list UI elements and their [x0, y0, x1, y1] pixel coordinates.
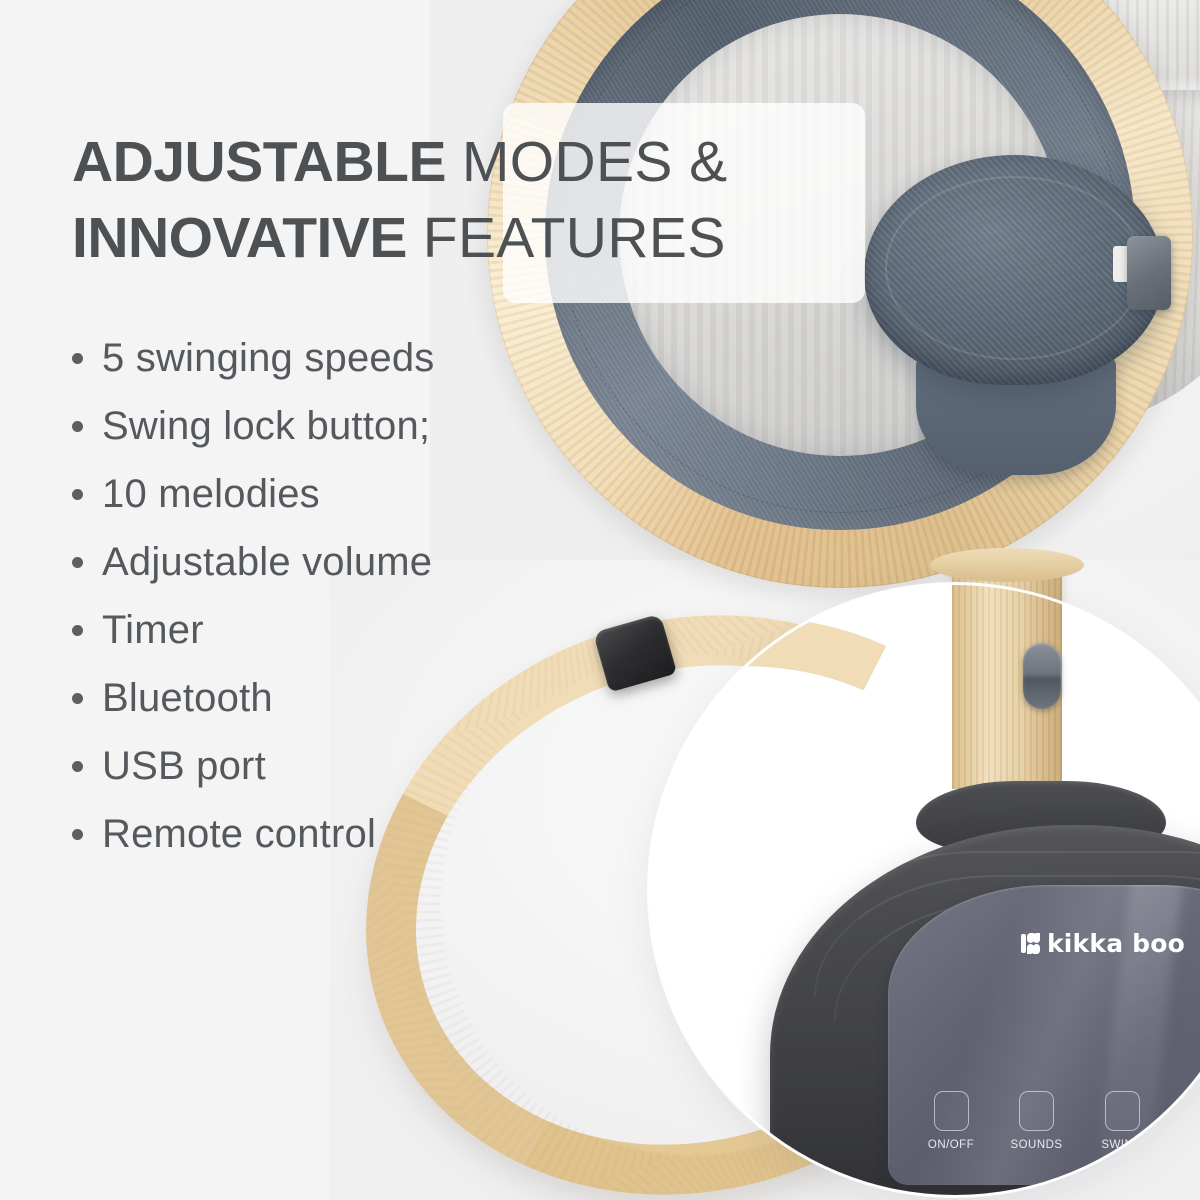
list-item: Bluetooth	[72, 664, 435, 732]
bullet-dot-icon	[72, 353, 83, 364]
bullet-dot-icon	[72, 761, 83, 772]
feature-label: Swing lock button;	[102, 392, 430, 460]
bullet-dot-icon	[72, 421, 83, 432]
brand-name: kikka boo	[1047, 931, 1185, 956]
post-top-cap	[930, 548, 1084, 582]
feature-label: USB port	[102, 732, 266, 800]
headline-line-1: ADJUSTABLE MODES &	[72, 124, 872, 200]
zoom-callout-circle: kikka boo ON/OFF SOUNDS S	[650, 585, 1200, 1195]
marketing-banner: kikka boo ON/OFF SOUNDS S	[0, 0, 1200, 1200]
headline-line-1-bold: ADJUSTABLE	[72, 130, 446, 194]
bullet-dot-icon	[72, 693, 83, 704]
list-item: Adjustable volume	[72, 528, 435, 596]
harness-buckle	[1127, 236, 1171, 310]
kikkaboo-k-mark-icon	[1021, 933, 1040, 954]
bullet-dot-icon	[72, 625, 83, 636]
control-button-on-off[interactable]: ON/OFF	[912, 1091, 990, 1151]
list-item: Timer	[72, 596, 435, 664]
control-panel[interactable]: kikka boo ON/OFF SOUNDS S	[888, 885, 1200, 1185]
list-item: 10 melodies	[72, 460, 435, 528]
on-off-label: ON/OFF	[928, 1139, 974, 1151]
bullet-dot-icon	[72, 829, 83, 840]
feature-label: Timer	[102, 596, 204, 664]
control-button-row: ON/OFF SOUNDS SWING TIMER	[912, 1091, 1200, 1151]
list-item: 5 swinging speeds	[72, 324, 435, 392]
list-item: USB port	[72, 732, 435, 800]
timer-key-icon[interactable]	[1190, 1091, 1200, 1131]
control-button-timer[interactable]: TIMER	[1169, 1091, 1200, 1151]
brand-logo: kikka boo	[888, 931, 1200, 956]
bullet-dot-icon	[72, 489, 83, 500]
timer-label: TIMER	[1188, 1139, 1200, 1151]
feature-list: 5 swinging speeds Swing lock button; 10 …	[72, 324, 435, 868]
control-button-sounds[interactable]: SOUNDS	[998, 1091, 1076, 1151]
list-item: Swing lock button;	[72, 392, 435, 460]
headline-line-2-bold: INNOVATIVE	[72, 206, 407, 270]
swing-label: SWING	[1101, 1139, 1142, 1151]
feature-label: Bluetooth	[102, 664, 273, 732]
bullet-dot-icon	[72, 557, 83, 568]
headline-line-2-light: FEATURES	[423, 206, 726, 270]
swing-key-icon[interactable]	[1105, 1091, 1140, 1131]
feature-label: Adjustable volume	[102, 528, 432, 596]
sounds-label: SOUNDS	[1011, 1139, 1063, 1151]
feature-label: 5 swinging speeds	[102, 324, 435, 392]
headline-line-2: INNOVATIVE FEATURES	[72, 200, 872, 276]
feature-label: 10 melodies	[102, 460, 320, 528]
control-button-swing[interactable]: SWING	[1083, 1091, 1161, 1151]
sounds-key-icon[interactable]	[1019, 1091, 1054, 1131]
feature-label: Remote control	[102, 800, 376, 868]
list-item: Remote control	[72, 800, 435, 868]
on-off-key-icon[interactable]	[934, 1091, 969, 1131]
headline-line-1-light: MODES &	[462, 130, 728, 194]
headline: ADJUSTABLE MODES & INNOVATIVE FEATURES	[72, 124, 872, 276]
callout-swing-lock-knob	[1023, 643, 1061, 709]
